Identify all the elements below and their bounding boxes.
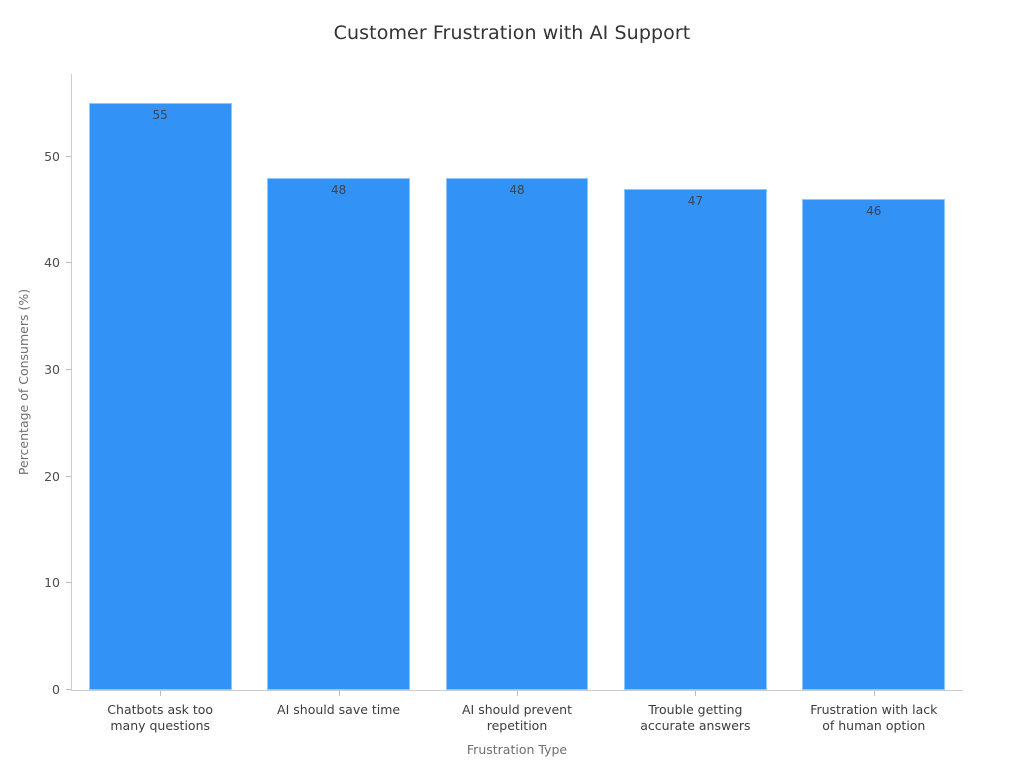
x-tick-mark — [517, 691, 518, 696]
bar-value-label: 46 — [802, 204, 945, 218]
x-tick-label: AI should save time — [239, 702, 439, 718]
x-tick-label: Trouble gettingaccurate answers — [595, 702, 795, 734]
x-tick-label: Frustration with lackof human option — [774, 702, 974, 734]
x-axis-title: Frustration Type — [71, 742, 963, 757]
y-tick-mark — [66, 689, 71, 690]
x-tick-mark — [339, 691, 340, 696]
y-tick-label: 30 — [44, 361, 60, 378]
bar[interactable]: 55 — [89, 103, 232, 690]
x-tick-mark — [695, 691, 696, 696]
bar-value-label: 48 — [267, 183, 410, 197]
bar[interactable]: 48 — [446, 178, 589, 690]
bar[interactable]: 48 — [267, 178, 410, 690]
chart-figure: Customer Frustration with AI Support 010… — [0, 0, 1024, 768]
y-tick-mark — [66, 262, 71, 263]
y-tick-label: 20 — [44, 468, 60, 485]
y-tick-label: 40 — [44, 254, 60, 271]
bar[interactable]: 46 — [802, 199, 945, 690]
bar-value-label: 48 — [446, 183, 589, 197]
y-tick-label: 50 — [44, 148, 60, 165]
y-tick-mark — [66, 582, 71, 583]
y-tick-label: 0 — [52, 681, 60, 698]
y-axis-spine — [71, 74, 72, 691]
y-tick-mark — [66, 369, 71, 370]
y-tick-label: 10 — [44, 574, 60, 591]
x-tick-mark — [160, 691, 161, 696]
bar-value-label: 47 — [624, 194, 767, 208]
y-tick-mark — [66, 476, 71, 477]
x-tick-label: AI should preventrepetition — [417, 702, 617, 734]
x-tick-label: Chatbots ask toomany questions — [60, 702, 260, 734]
bar-value-label: 55 — [89, 108, 232, 122]
bar[interactable]: 47 — [624, 189, 767, 690]
chart-title: Customer Frustration with AI Support — [0, 22, 1024, 44]
x-tick-mark — [874, 691, 875, 696]
y-axis-title: Percentage of Consumers (%) — [16, 74, 31, 690]
y-tick-mark — [66, 156, 71, 157]
